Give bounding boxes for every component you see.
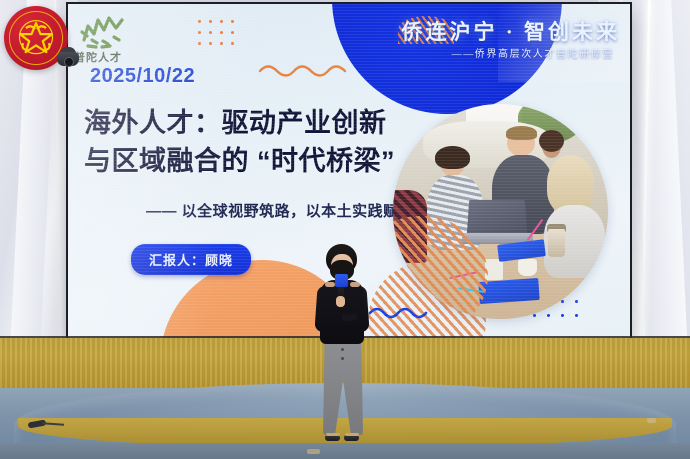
camera-lens: [64, 57, 74, 67]
screenshot-root: 普陀人才 2025/10/22 海外人才：驱动产业创新 与区域融合的 “时代桥梁…: [0, 0, 690, 459]
trouser-button: [341, 357, 344, 360]
presenter-trousers: [323, 340, 363, 435]
presenter-hand: [336, 296, 345, 307]
presenter-person: [303, 244, 381, 444]
trouser-button: [341, 348, 344, 351]
emblem-star-knot-icon: [14, 15, 58, 59]
floor-front: [0, 443, 690, 459]
floor-tape-mark: [307, 449, 320, 454]
presenter-shoulder-cutout-right: [350, 282, 360, 287]
presenter-shoulder-cutout-left: [325, 282, 335, 287]
presenter-shoe-detail-left: [326, 433, 340, 436]
camera-icon: [57, 46, 79, 72]
presenter-shoe-detail-right: [345, 433, 359, 436]
microphone-flag: [335, 274, 348, 287]
floor-marker: [647, 418, 656, 423]
